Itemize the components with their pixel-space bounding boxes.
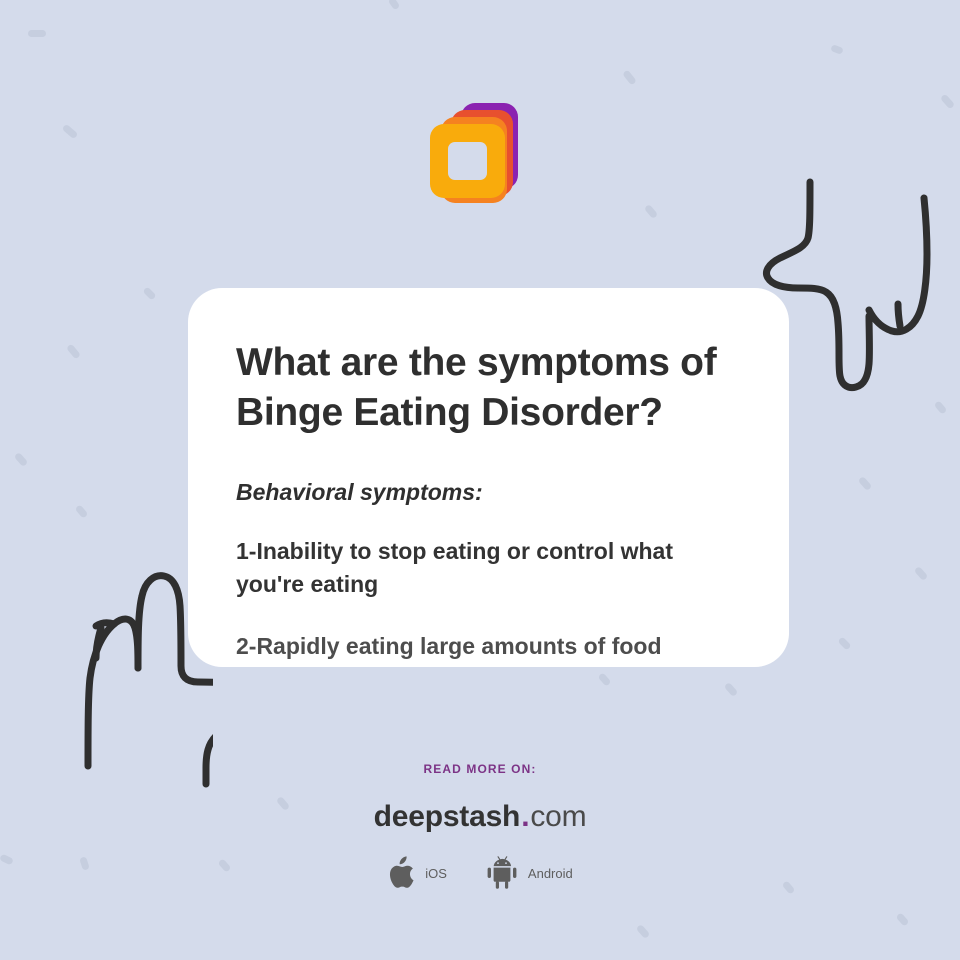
symptom-item-1: 1-Inability to stop eating or control wh… [236,535,741,601]
brand-wordmark[interactable]: deepstash.com [0,800,960,834]
brand-dot: . [521,800,529,833]
android-label: Android [528,866,573,881]
read-more-label: READ MORE ON: [0,762,960,776]
android-icon [485,856,519,890]
apple-icon [387,856,416,890]
ios-label: iOS [425,866,447,881]
card-subtitle: Behavioral symptoms: [236,478,741,506]
footer: READ MORE ON: deepstash.com iOS [0,762,960,890]
android-store-badge[interactable]: Android [485,856,573,890]
brand-tld: com [530,800,586,833]
page-title: What are the symptoms of Binge Eating Di… [236,338,741,438]
logo-layer-amber [430,124,505,198]
ios-store-badge[interactable]: iOS [387,856,447,890]
pointing-hand-bottom-left-icon [18,556,213,796]
symptom-item-2: 2-Rapidly eating large amounts of food [236,630,741,663]
deepstash-logo [425,103,520,198]
app-store-badges: iOS [0,856,960,890]
poster-canvas: What are the symptoms of Binge Eating Di… [0,0,960,960]
content-card: What are the symptoms of Binge Eating Di… [188,288,789,667]
brand-name: deepstash [374,800,521,833]
